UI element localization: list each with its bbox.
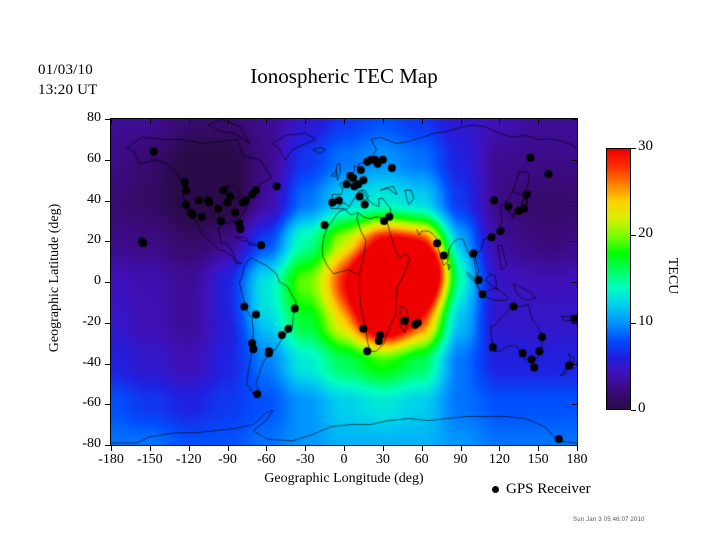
x-tick-top bbox=[228, 119, 229, 124]
x-tick-top bbox=[305, 119, 306, 124]
colorbar-tick bbox=[631, 410, 636, 411]
y-tick bbox=[105, 160, 110, 161]
x-tick bbox=[111, 446, 112, 451]
y-tick bbox=[105, 404, 110, 405]
y-tick-right bbox=[572, 119, 577, 120]
observation-date: 01/03/10 bbox=[38, 62, 93, 79]
y-tick-label: 80 bbox=[61, 110, 101, 126]
colorbar-tick-label: 10 bbox=[638, 313, 653, 330]
colorbar bbox=[606, 148, 631, 410]
x-tick-top bbox=[499, 119, 500, 124]
page-title: Ionospheric TEC Map bbox=[110, 64, 578, 89]
y-tick-right bbox=[572, 364, 577, 365]
y-tick-label: 0 bbox=[61, 273, 101, 289]
x-tick bbox=[305, 446, 306, 451]
x-tick-top bbox=[150, 119, 151, 124]
colorbar-tick-label: 20 bbox=[638, 225, 653, 242]
x-tick-top bbox=[383, 119, 384, 124]
y-tick-right bbox=[572, 160, 577, 161]
y-tick bbox=[105, 323, 110, 324]
y-axis-title: Geographic Latitude (deg) bbox=[47, 168, 63, 388]
y-tick-right bbox=[572, 201, 577, 202]
y-tick-right bbox=[572, 445, 577, 446]
y-tick bbox=[105, 241, 110, 242]
x-tick-top bbox=[422, 119, 423, 124]
x-tick bbox=[577, 446, 578, 451]
y-tick-label: 20 bbox=[61, 232, 101, 248]
y-tick-right bbox=[572, 282, 577, 283]
legend-label: GPS Receiver bbox=[506, 481, 591, 498]
colorbar-tick-label: 0 bbox=[638, 400, 646, 417]
colorbar-tick bbox=[631, 148, 636, 149]
colorbar-tick bbox=[631, 235, 636, 236]
observation-time: 13:20 UT bbox=[38, 82, 98, 99]
y-tick-right bbox=[572, 404, 577, 405]
y-tick bbox=[105, 201, 110, 202]
tec-map-plot-area bbox=[110, 118, 578, 446]
x-tick-top bbox=[461, 119, 462, 124]
y-tick-right bbox=[572, 241, 577, 242]
y-tick-right bbox=[572, 323, 577, 324]
x-tick-top bbox=[266, 119, 267, 124]
x-tick-top bbox=[538, 119, 539, 124]
y-tick-label: -60 bbox=[61, 395, 101, 411]
y-tick-label: -80 bbox=[61, 436, 101, 452]
legend: GPS Receiver bbox=[492, 481, 591, 498]
x-tick bbox=[228, 446, 229, 451]
x-tick bbox=[422, 446, 423, 451]
x-tick-top bbox=[344, 119, 345, 124]
dot-marker-icon bbox=[492, 486, 499, 493]
x-tick-top bbox=[577, 119, 578, 124]
y-tick bbox=[105, 119, 110, 120]
colorbar-gradient bbox=[607, 149, 630, 409]
tec-heatmap-canvas bbox=[111, 119, 577, 445]
y-tick bbox=[105, 282, 110, 283]
x-tick-label: 180 bbox=[547, 452, 607, 468]
colorbar-tick-label: 30 bbox=[638, 138, 653, 155]
tec-map-figure: 01/03/10 13:20 UT Ionospheric TEC Map -1… bbox=[0, 0, 720, 540]
x-tick bbox=[499, 446, 500, 451]
colorbar-title: TECU bbox=[664, 216, 680, 336]
x-tick bbox=[266, 446, 267, 451]
x-tick bbox=[383, 446, 384, 451]
x-tick bbox=[150, 446, 151, 451]
y-tick-label: 60 bbox=[61, 151, 101, 167]
y-tick-label: -20 bbox=[61, 314, 101, 330]
y-tick-label: -40 bbox=[61, 355, 101, 371]
x-tick bbox=[344, 446, 345, 451]
render-timestamp: Sun Jan 3 05:46:07 2010 bbox=[573, 517, 645, 523]
x-tick bbox=[461, 446, 462, 451]
y-tick bbox=[105, 364, 110, 365]
x-tick-top bbox=[189, 119, 190, 124]
x-tick bbox=[538, 446, 539, 451]
y-tick bbox=[105, 445, 110, 446]
x-tick bbox=[189, 446, 190, 451]
colorbar-tick bbox=[631, 323, 636, 324]
y-tick-label: 40 bbox=[61, 192, 101, 208]
x-tick-top bbox=[111, 119, 112, 124]
